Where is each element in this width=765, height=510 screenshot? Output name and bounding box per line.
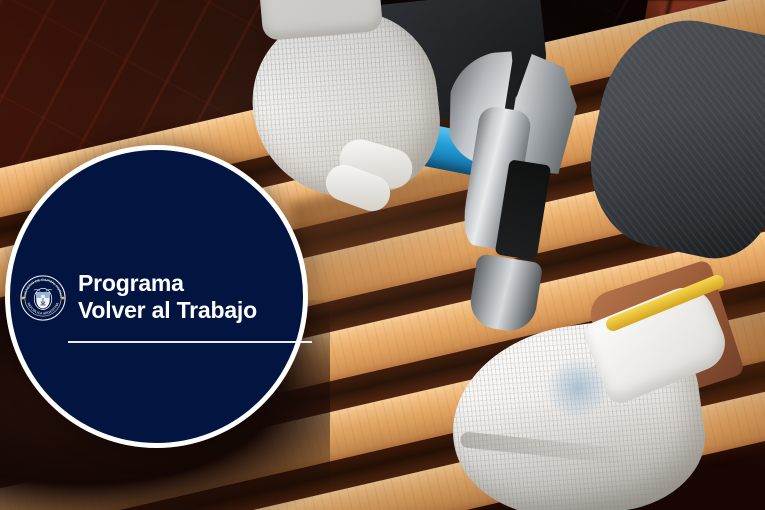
- argentina-coat-of-arms-seal-icon: MINISTERIO DE CAPITAL HUMANO REPÚBLICA A…: [20, 275, 66, 321]
- badge-title-line-1: Programa: [78, 270, 257, 297]
- gloved-hand-holding-nail: [452, 300, 742, 510]
- badge-title-line-2: Volver al Trabajo: [78, 297, 257, 324]
- badge-underline: [68, 341, 312, 343]
- program-badge: MINISTERIO DE CAPITAL HUMANO REPÚBLICA A…: [5, 145, 308, 448]
- badge-title: Programa Volver al Trabajo: [78, 270, 257, 323]
- banner-image: MINISTERIO DE CAPITAL HUMANO REPÚBLICA A…: [0, 0, 765, 510]
